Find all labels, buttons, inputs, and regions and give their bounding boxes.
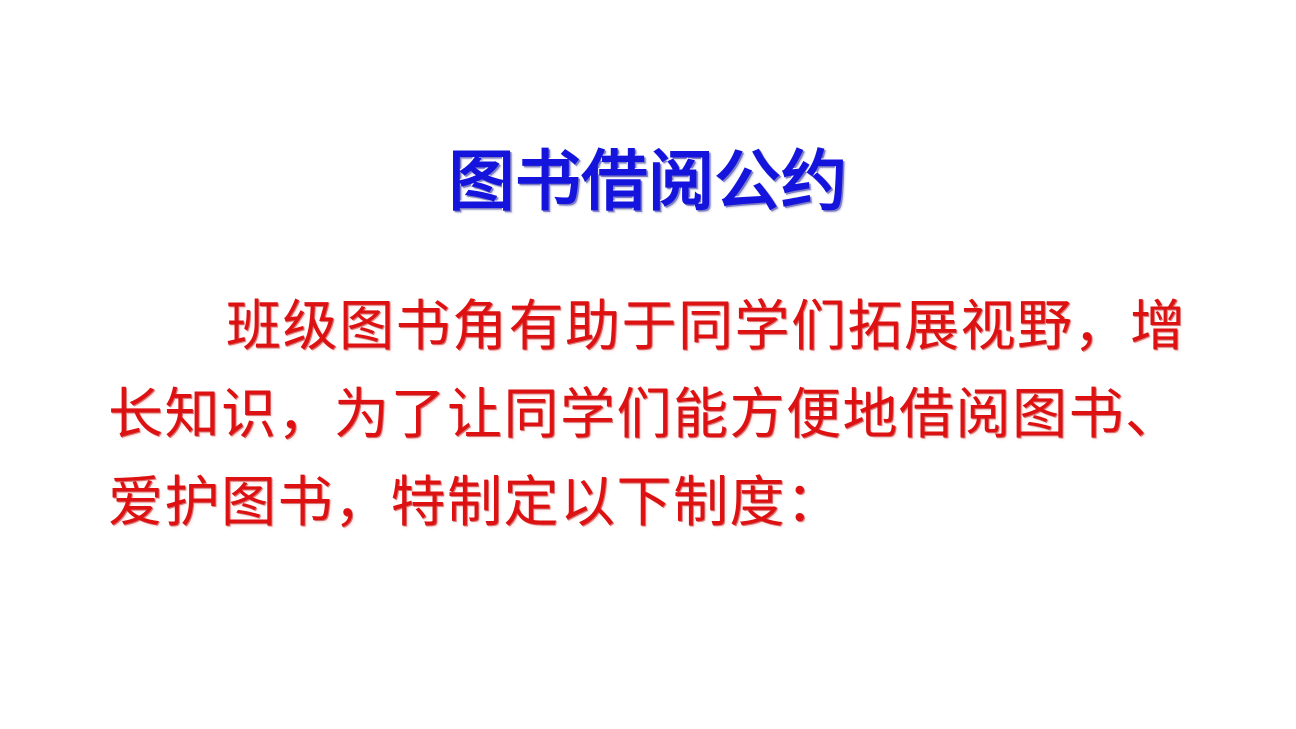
page-title: 图书借阅公约 [449,142,848,222]
body-line-2: 长知识，为了让同学们能方便地借阅图书、 [108,370,1226,458]
slide-title-block: 图书借阅公约 [0,98,1296,266]
slide-canvas: 图书借阅公约 班级图书角有助于同学们拓展视野，增 长知识，为了让同学们能方便地借… [0,0,1296,729]
body-line-1: 班级图书角有助于同学们拓展视野，增 [108,282,1226,370]
slide-body-block: 班级图书角有助于同学们拓展视野，增 长知识，为了让同学们能方便地借阅图书、 爱护… [108,282,1226,546]
body-line-3: 爱护图书，特制定以下制度： [108,458,1226,546]
